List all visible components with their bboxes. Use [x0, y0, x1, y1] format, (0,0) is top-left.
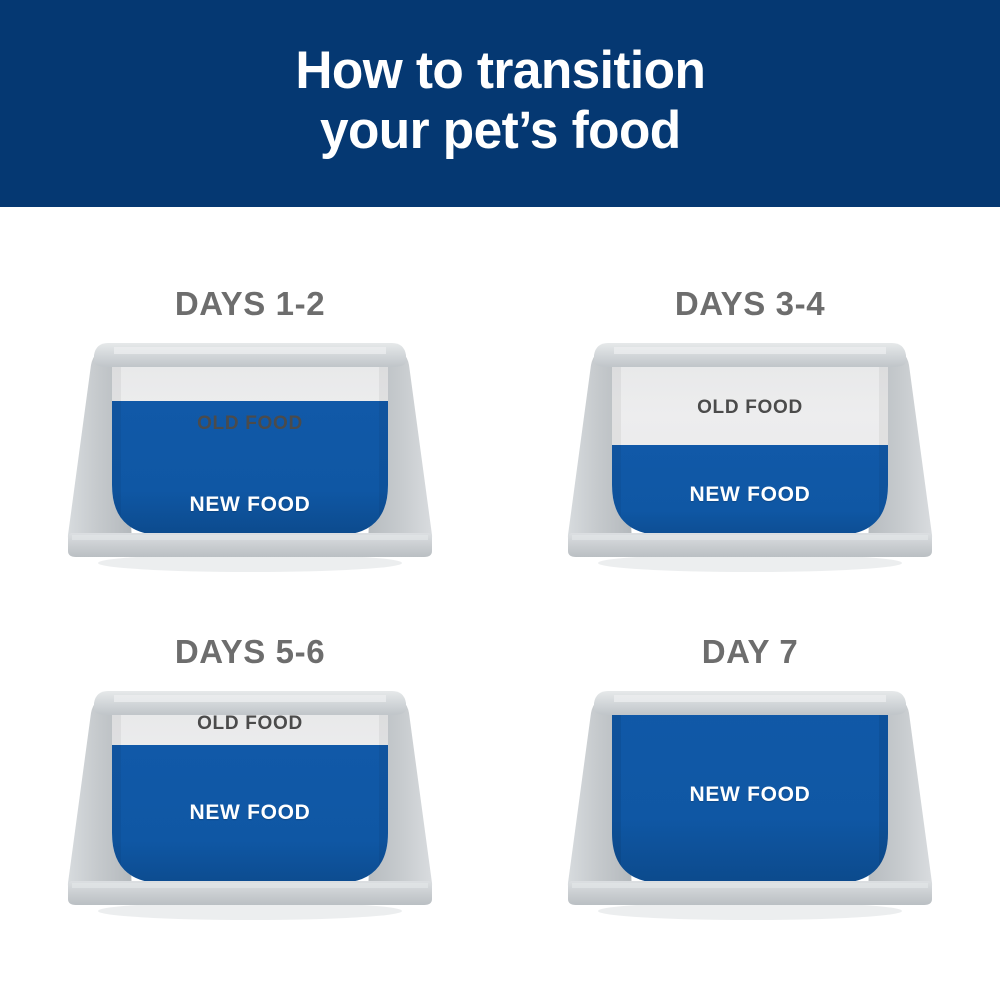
step-days-1-2: DAYS 1-2	[0, 207, 500, 603]
bowl-day-7: NEW FOOD	[564, 683, 936, 933]
new-food-fill	[604, 693, 904, 903]
step-days-3-4: DAYS 3-4	[500, 207, 1000, 603]
step-label-days-5-6: DAYS 5-6	[175, 633, 325, 671]
page-title: How to transition your pet’s food	[295, 41, 705, 167]
infographic-page: How to transition your pet’s food DAYS 1…	[0, 0, 1000, 1000]
step-label-days-1-2: DAYS 1-2	[175, 285, 325, 323]
transition-steps-grid: DAYS 1-2	[0, 207, 1000, 1000]
step-label-days-3-4: DAYS 3-4	[675, 285, 825, 323]
step-days-5-6: DAYS 5-6	[0, 603, 500, 1000]
bowl-days-1-2: OLD FOOD NEW FOOD	[64, 335, 436, 585]
bowl-rim	[94, 691, 406, 715]
bowl-rim	[94, 343, 406, 367]
step-label-day-7: DAY 7	[702, 633, 799, 671]
bowl-days-3-4: OLD FOOD NEW FOOD	[564, 335, 936, 585]
bowl-rim	[594, 343, 906, 367]
bowl-days-5-6: OLD FOOD NEW FOOD	[64, 683, 436, 933]
bowl-rim	[594, 691, 906, 715]
step-day-7: DAY 7	[500, 603, 1000, 1000]
new-food-fill	[104, 401, 404, 551]
header-banner: How to transition your pet’s food	[0, 0, 1000, 207]
